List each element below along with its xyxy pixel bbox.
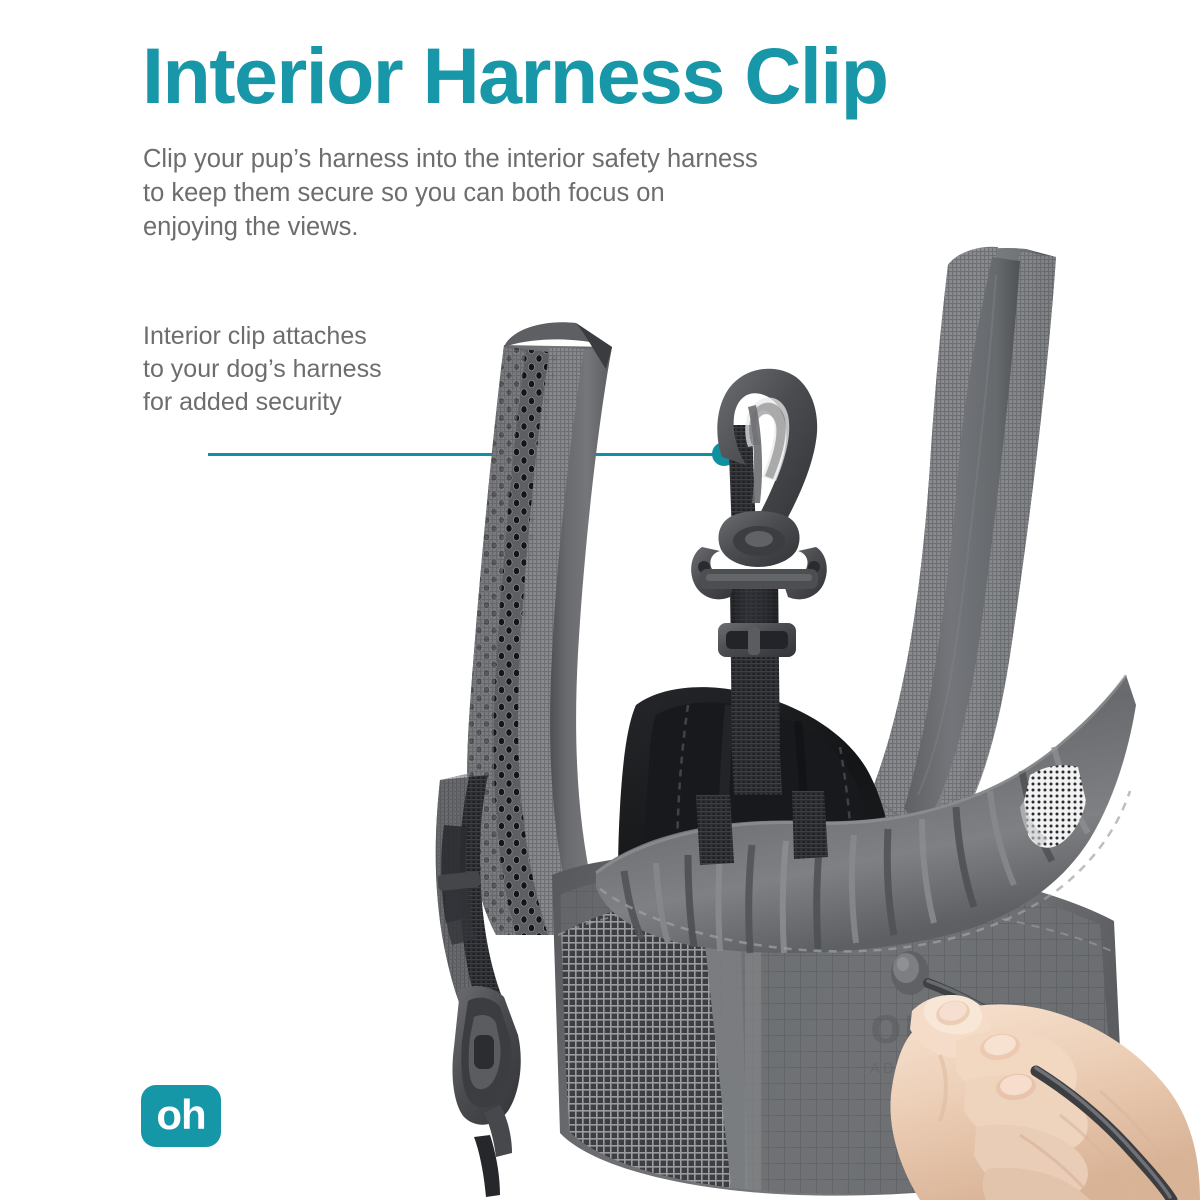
subtitle-line-1: Clip your pup’s harness into the interio… <box>143 142 963 176</box>
swivel-snap-hook-clip <box>691 369 827 600</box>
padded-shoulder-strap-right <box>870 247 1056 845</box>
cord-lock-toggle <box>891 951 929 995</box>
subtitle-line-2: to keep them secure so you can both focu… <box>143 176 963 210</box>
product-photo: out ADVENTURE <box>400 235 1200 1200</box>
infographic-page: Interior Harness Clip Clip your pup’s ha… <box>0 0 1200 1200</box>
padded-shoulder-strap-left <box>467 322 612 935</box>
oh-logo-badge: oh <box>141 1085 221 1147</box>
ladder-lock-adjuster <box>718 623 796 657</box>
page-title: Interior Harness Clip <box>142 36 1042 117</box>
side-release-buckle <box>452 986 520 1197</box>
logo-wordmark: oh <box>141 1085 221 1147</box>
subtitle-block: Clip your pup’s harness into the interio… <box>143 142 963 244</box>
